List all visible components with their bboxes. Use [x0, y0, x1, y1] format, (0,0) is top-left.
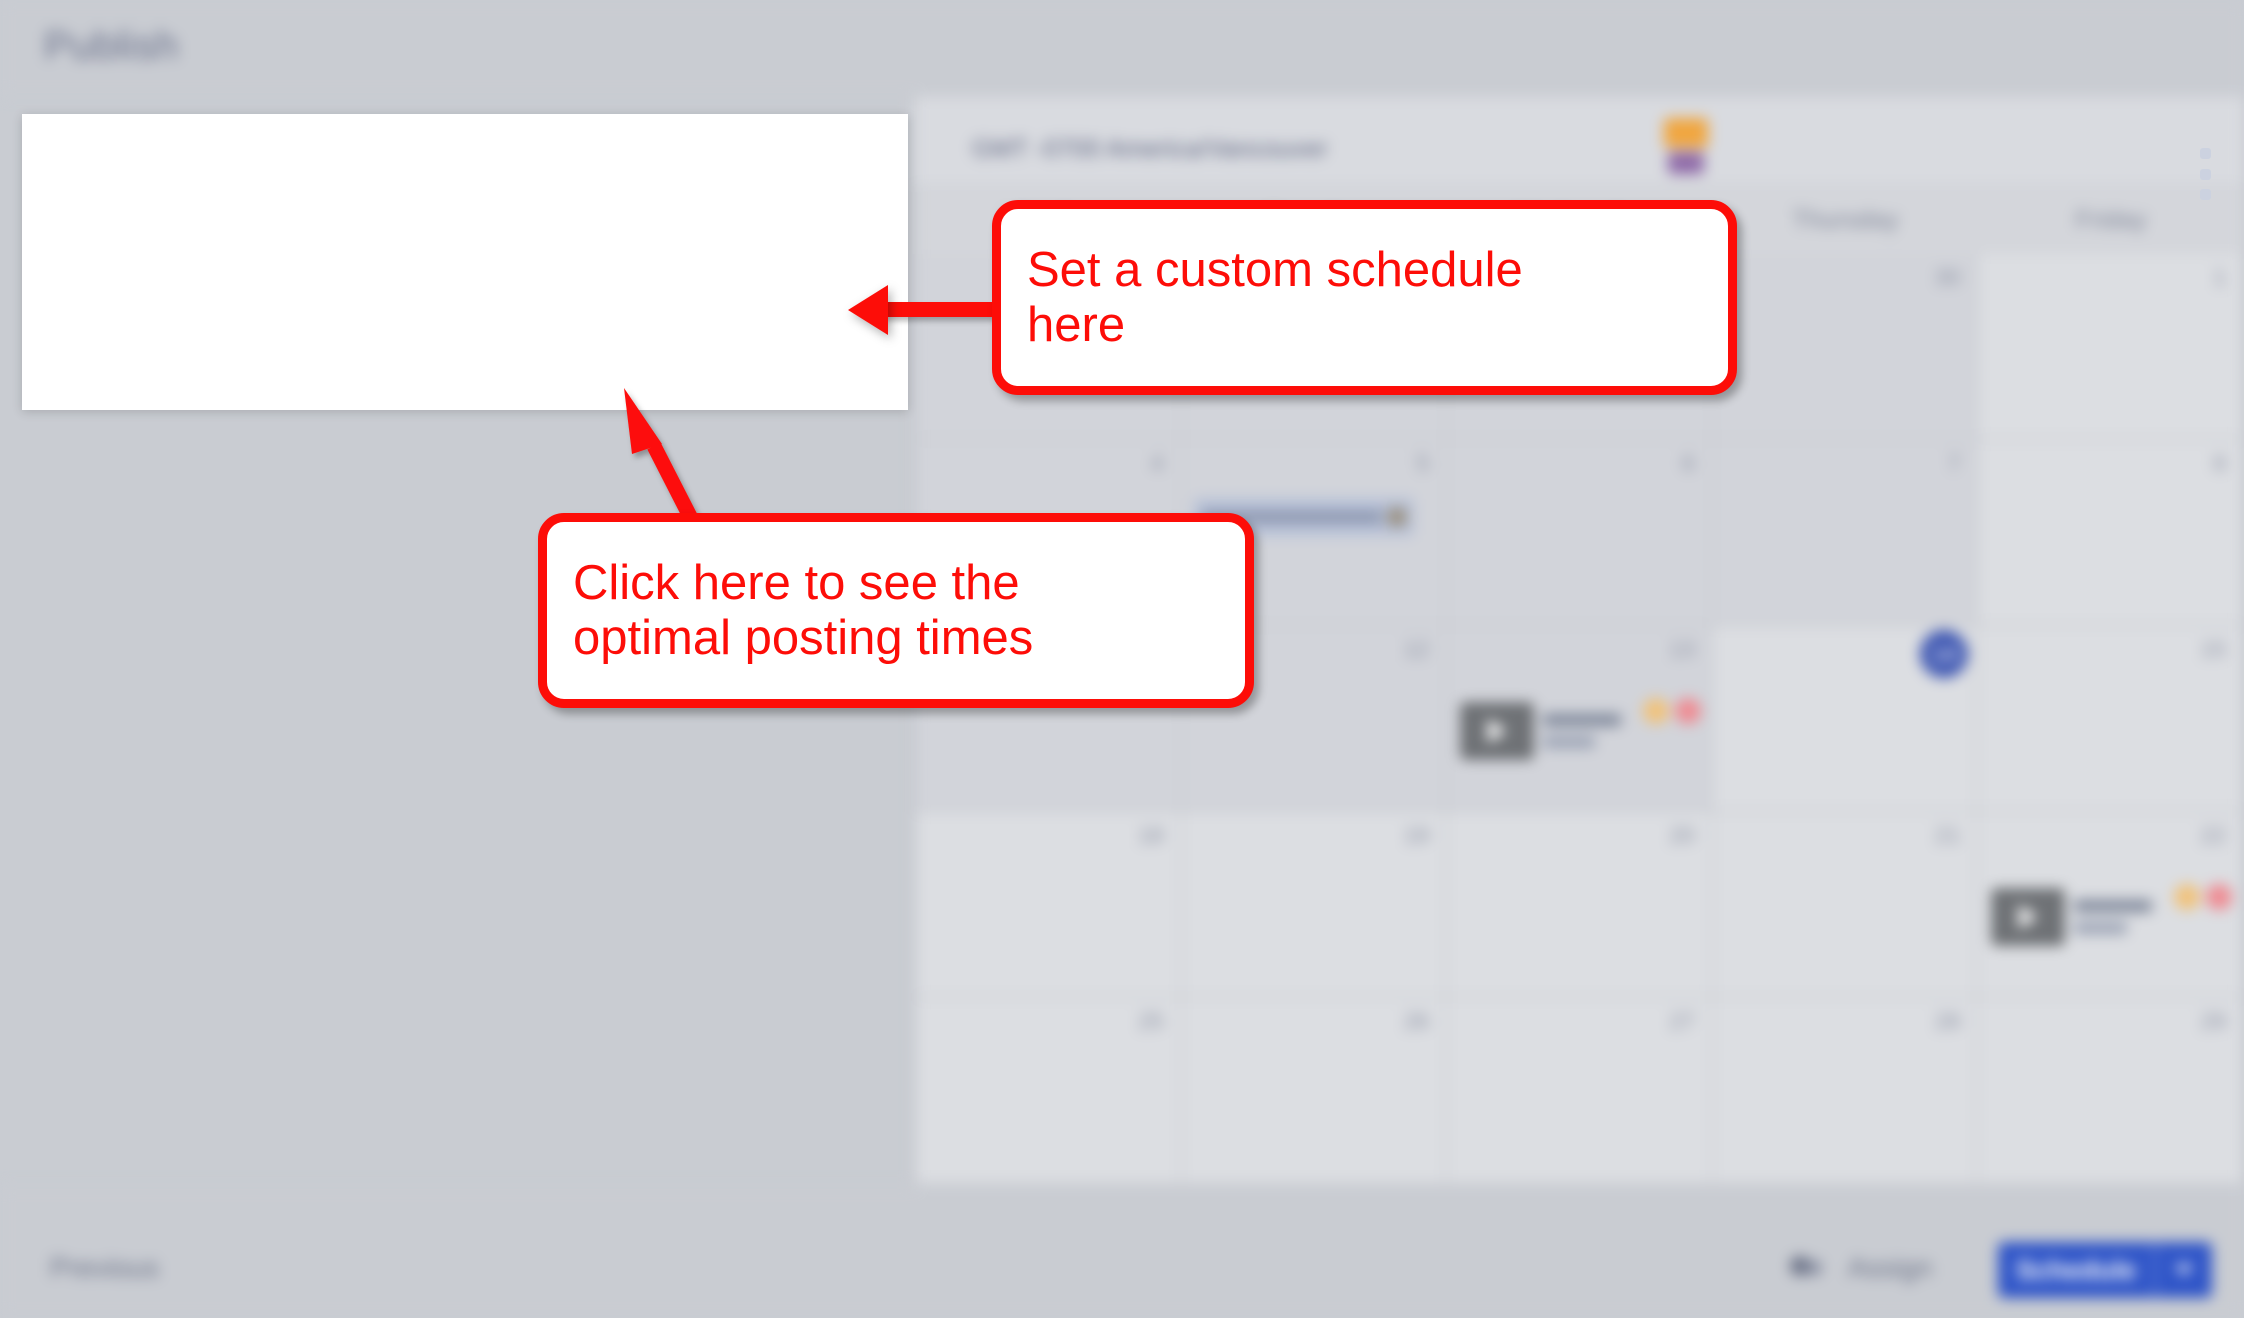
calendar-day-number: 21: [1935, 822, 1961, 849]
screenshot-root: Publish GMT -0700 America/Vancouver Mond…: [0, 0, 2244, 1318]
calendar-day-number: 4: [1151, 450, 1164, 477]
calendar-day-cell[interactable]: 28: [1713, 998, 1979, 1184]
calendar-day-number: 6: [1682, 450, 1695, 477]
app-top-bar: [0, 0, 2244, 96]
annotation-arrow-head: [848, 285, 888, 335]
calendar-day-number: 30: [1935, 264, 1961, 291]
calendar-day-cell[interactable]: 29: [1978, 998, 2244, 1184]
calendar-day-cell[interactable]: 14: [1713, 626, 1979, 812]
event-avatar: [1388, 508, 1406, 526]
calendar-day-cell[interactable]: 19: [1182, 812, 1448, 998]
calendar-day-cell[interactable]: 15: [1978, 626, 2244, 812]
calendar-today-marker: 14: [1920, 630, 1968, 678]
calendar-post-card[interactable]: [1461, 696, 1701, 766]
calendar-day-cell[interactable]: 18: [916, 812, 1182, 998]
calendar-day-number: 26: [1404, 1008, 1430, 1035]
calendar-day-number: 19: [1404, 822, 1430, 849]
video-thumbnail-icon: [1461, 703, 1533, 759]
calendar-day-number: 22: [2200, 822, 2226, 849]
post-network-avatars: [2174, 884, 2232, 910]
callout-text: Click here to see the optimal posting ti…: [547, 556, 1059, 666]
calendar-day-cell[interactable]: 7: [1713, 440, 1979, 626]
calendar-day-cell[interactable]: 6: [1447, 440, 1713, 626]
post-text-lines: [2074, 900, 2164, 934]
calendar-day-cell[interactable]: 21: [1713, 812, 1979, 998]
calendar-day-number: 7: [1948, 450, 1961, 477]
calendar-post-card[interactable]: [1992, 882, 2232, 952]
previous-button[interactable]: Previous: [50, 1252, 159, 1284]
kebab-menu-icon[interactable]: [2198, 148, 2212, 200]
calendar-day-cell[interactable]: 30: [1713, 254, 1979, 440]
calendar-day-number: 8: [2213, 450, 2226, 477]
weekday-thursday: Thursday: [1713, 186, 1979, 254]
calendar-day-number: 18: [1138, 822, 1164, 849]
calendar-day-number: 20: [1669, 822, 1695, 849]
calendar-day-number: 28: [1935, 1008, 1961, 1035]
calendar-day-cell[interactable]: 13: [1447, 626, 1713, 812]
calendar-day-number: 5: [1416, 450, 1429, 477]
assign-button[interactable]: Assign: [1848, 1252, 1932, 1284]
calendar-day-cell[interactable]: 26: [1182, 998, 1448, 1184]
calendar-day-number: 15: [2200, 636, 2226, 663]
video-thumbnail-icon: [1992, 889, 2064, 945]
chevron-down-icon[interactable]: [2156, 1265, 2212, 1275]
schedule-button-label: Schedule: [1998, 1255, 2154, 1286]
calendar-day-number: 29: [2200, 1008, 2226, 1035]
calendar-day-number: 12: [1404, 636, 1430, 663]
post-text-lines: [1543, 714, 1633, 748]
calendar-day-cell[interactable]: 8: [1978, 440, 2244, 626]
schedule-card: [22, 114, 908, 410]
annotation-arrow-optimal-times: [580, 384, 710, 534]
calendar-day-number: 25: [1138, 1008, 1164, 1035]
calendar-day-cell[interactable]: 1: [1978, 254, 2244, 440]
callout-set-custom-schedule: Set a custom schedule here: [992, 200, 1737, 395]
calendar-day-number: 27: [1669, 1008, 1695, 1035]
schedule-button[interactable]: Schedule: [1998, 1242, 2212, 1298]
annotation-arrow-shaft: [880, 302, 998, 317]
calendar-day-cell[interactable]: 27: [1447, 998, 1713, 1184]
calendar-day-number: 1: [2213, 264, 2226, 291]
page-title: Publish: [44, 24, 179, 69]
calendar-day-cell[interactable]: 25: [916, 998, 1182, 1184]
people-icon: [1790, 1252, 1834, 1282]
calendar-day-cell[interactable]: 22: [1978, 812, 2244, 998]
callout-text: Set a custom schedule here: [1001, 243, 1549, 353]
calendar-day-cell[interactable]: 20: [1447, 812, 1713, 998]
calendar-day-number: 13: [1669, 636, 1695, 663]
timezone-avatar-icon: [1660, 118, 1712, 174]
post-network-avatars: [1643, 698, 1701, 724]
calendar-timezone-label: GMT -0700 America/Vancouver: [972, 135, 1328, 164]
callout-optimal-posting-times: Click here to see the optimal posting ti…: [538, 513, 1254, 708]
